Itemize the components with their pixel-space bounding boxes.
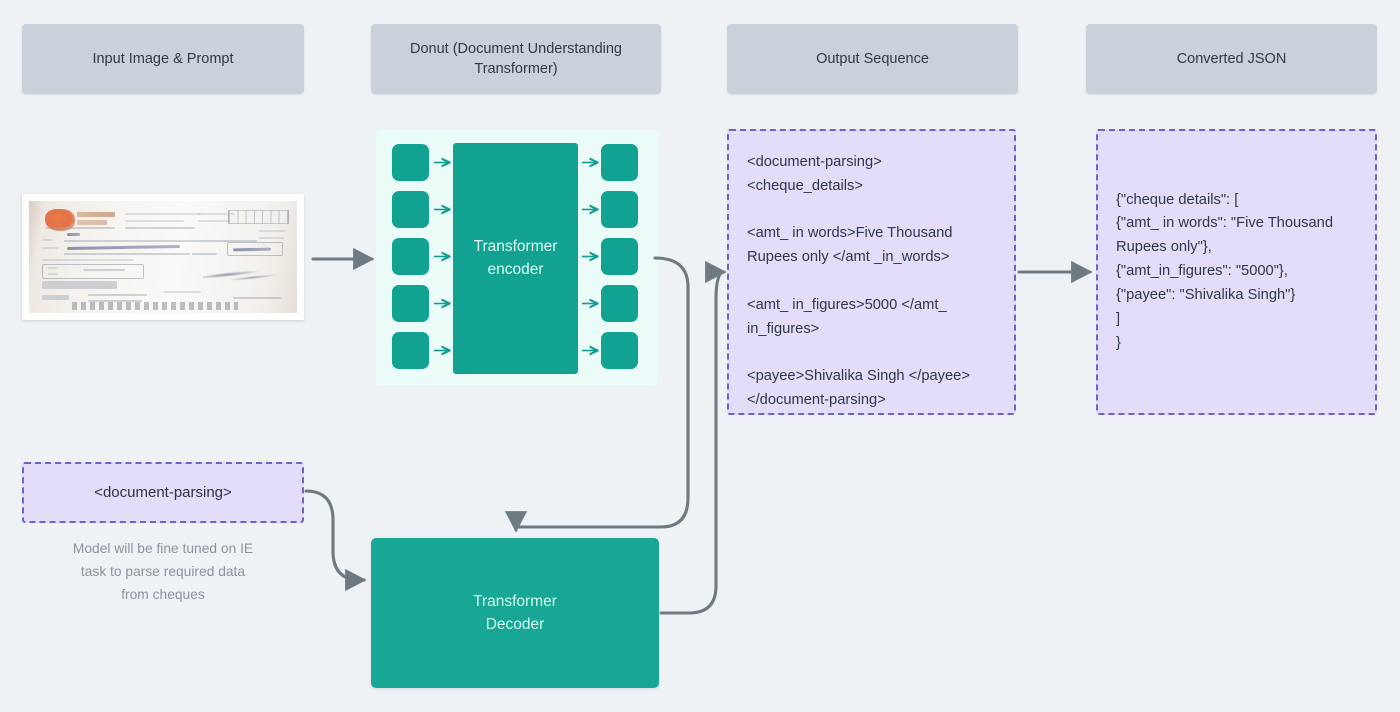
encoder-output-token-5 [601, 332, 638, 369]
transformer-encoder-label: Transformer encoder [474, 236, 558, 281]
encoder-input-token-1 [392, 144, 429, 181]
column-header-input-image-prompt: Input Image & Prompt [22, 24, 304, 94]
wire-decoder-to-output [661, 272, 724, 613]
encoder-input-token-5 [392, 332, 429, 369]
transformer-decoder-label: Transformer Decoder [473, 590, 557, 637]
converted-json-box: {"cheque details": [ {"amt_ in words": "… [1096, 129, 1377, 415]
encoder-input-token-4 [392, 285, 429, 322]
prompt-token-box: <document-parsing> [22, 462, 304, 523]
encoder-output-token-3 [601, 238, 638, 275]
input-cheque-image [22, 194, 304, 320]
converted-json-text: {"cheque details": [ {"amt_ in words": "… [1116, 189, 1357, 356]
column-header-converted-json: Converted JSON [1086, 24, 1377, 94]
column-header-output-sequence: Output Sequence [727, 24, 1018, 94]
prompt-token-label: <document-parsing> [94, 484, 232, 501]
encoder-input-token-3 [392, 238, 429, 275]
wire-prompt-to-decoder [306, 491, 364, 580]
cheque-photo-icon [29, 201, 297, 313]
column-header-donut: Donut (Document Understanding Transforme… [371, 24, 661, 94]
output-sequence-text: <document-parsing> <cheque_details> <amt… [747, 151, 996, 413]
column-header-label: Output Sequence [816, 49, 929, 69]
diagram-canvas: Input Image & Prompt Donut (Document Und… [0, 0, 1400, 712]
encoder-output-token-4 [601, 285, 638, 322]
encoder-input-token-2 [392, 191, 429, 228]
column-header-label: Input Image & Prompt [92, 49, 233, 69]
transformer-encoder-block: Transformer encoder [453, 143, 578, 374]
output-sequence-box: <document-parsing> <cheque_details> <amt… [727, 129, 1016, 415]
column-header-label: Donut (Document Understanding Transforme… [385, 39, 647, 79]
encoder-output-token-2 [601, 191, 638, 228]
column-header-label: Converted JSON [1177, 49, 1287, 69]
encoder-output-token-1 [601, 144, 638, 181]
prompt-caption: Model will be fine tuned on IE task to p… [22, 538, 304, 606]
transformer-decoder-block: Transformer Decoder [371, 538, 659, 688]
